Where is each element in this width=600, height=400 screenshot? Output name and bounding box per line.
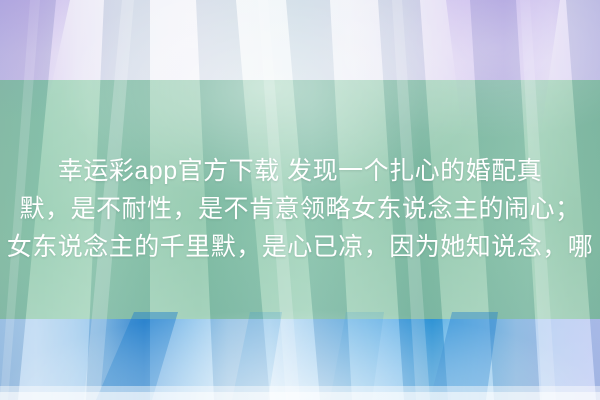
caption-line-1: 幸运彩app官方下载 发现一个扎心的婚配真: [0, 152, 600, 190]
caption-line-2: 默，是不耐性，是不肯意领略女东说念主的闹心；: [0, 190, 600, 228]
background-band-lavender: [0, 0, 600, 80]
banner-image: 幸运彩app官方下载 发现一个扎心的婚配真 默，是不耐性，是不肯意领略女东说念主…: [0, 0, 600, 400]
caption-line-3: 女东说念主的千里默，是心已凉，因为她知说念，哪: [0, 228, 600, 266]
background-band-blue: [0, 319, 600, 400]
banner-caption: 幸运彩app官方下载 发现一个扎心的婚配真 默，是不耐性，是不肯意领略女东说念主…: [0, 152, 600, 266]
